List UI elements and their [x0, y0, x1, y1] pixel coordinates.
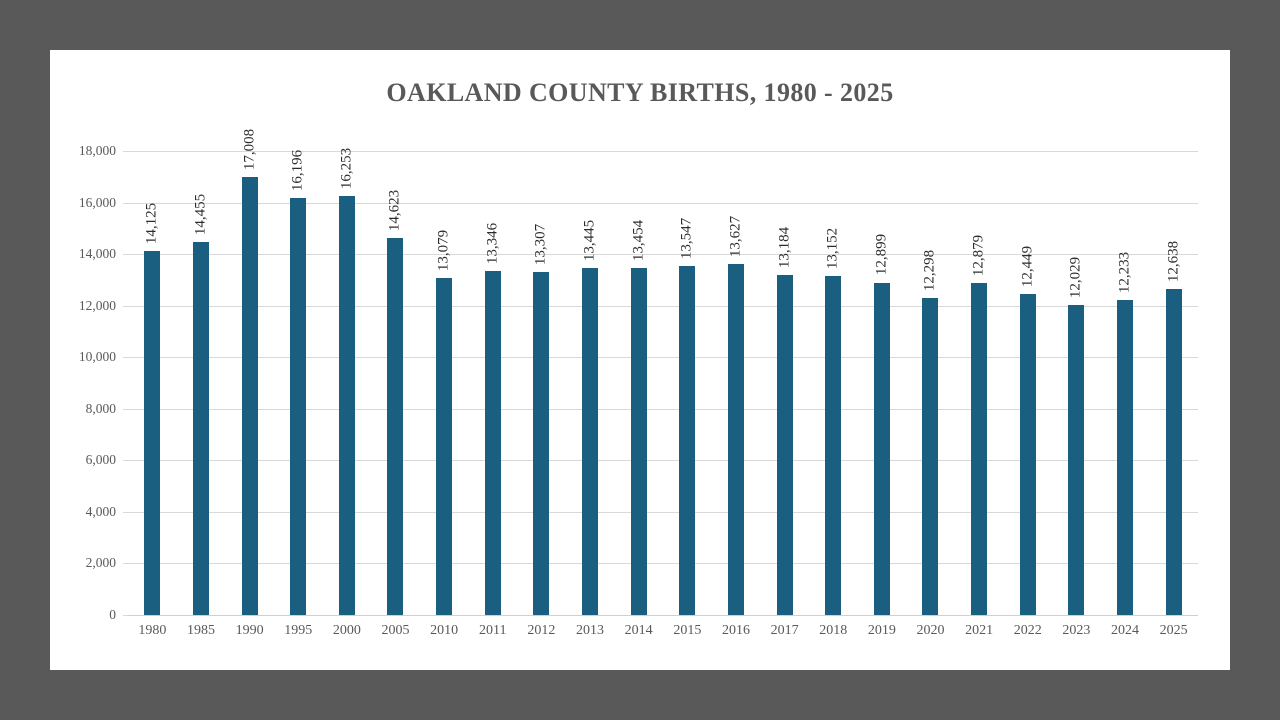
y-axis-tick-label: 18,000: [46, 143, 116, 159]
bar[interactable]: [339, 196, 355, 615]
bar[interactable]: [728, 264, 744, 615]
x-axis-category-label: 2000: [333, 623, 361, 639]
y-axis-tick-label: 2,000: [46, 555, 116, 571]
bar-group: 13,0792010: [420, 151, 469, 615]
bar-value-label: 17,008: [241, 128, 258, 169]
bar-value-label: 12,879: [971, 235, 988, 276]
bar-value-label: 12,899: [873, 234, 890, 275]
bar[interactable]: [874, 283, 890, 616]
bar-group: 13,3462011: [468, 151, 517, 615]
y-axis-tick-label: 10,000: [46, 349, 116, 365]
x-axis-category-label: 2017: [771, 623, 799, 639]
bar-group: 13,1842017: [760, 151, 809, 615]
bar[interactable]: [290, 198, 306, 615]
y-axis-tick-label: 8,000: [46, 401, 116, 417]
bar-group: 16,2532000: [323, 151, 372, 615]
bar-group: 12,8992019: [858, 151, 907, 615]
bar-group: 12,8792021: [955, 151, 1004, 615]
bar-group: 12,0292023: [1052, 151, 1101, 615]
bar-value-label: 13,184: [776, 227, 793, 268]
chart-title: OAKLAND COUNTY BIRTHS, 1980 - 2025: [50, 78, 1230, 108]
bar-value-label: 13,627: [727, 216, 744, 257]
bar-value-label: 12,449: [1019, 246, 1036, 287]
x-axis-category-label: 2012: [527, 623, 555, 639]
bar-group: 14,6232005: [371, 151, 420, 615]
bar-group: 16,1961995: [274, 151, 323, 615]
bar[interactable]: [922, 298, 938, 615]
bar-value-label: 12,029: [1068, 257, 1085, 298]
bar-value-label: 12,298: [922, 250, 939, 291]
bar[interactable]: [1020, 294, 1036, 615]
x-axis-category-label: 2021: [965, 623, 993, 639]
bar[interactable]: [144, 251, 160, 615]
y-axis-tick-label: 0: [46, 607, 116, 623]
x-axis-category-label: 1985: [187, 623, 215, 639]
bar[interactable]: [825, 276, 841, 615]
x-axis-category-label: 2025: [1160, 623, 1188, 639]
x-axis-category-label: 2022: [1014, 623, 1042, 639]
bar-group: 13,6272016: [712, 151, 761, 615]
bar-value-label: 16,196: [290, 149, 307, 190]
bar[interactable]: [485, 271, 501, 615]
bar-value-label: 13,547: [679, 218, 696, 259]
x-axis-category-label: 2005: [381, 623, 409, 639]
bar-value-label: 13,152: [825, 228, 842, 269]
y-axis-tick-label: 6,000: [46, 452, 116, 468]
slide-canvas: OAKLAND COUNTY BIRTHS, 1980 - 2025 18,00…: [50, 50, 1230, 670]
bar[interactable]: [971, 283, 987, 615]
x-axis-category-label: 1990: [236, 623, 264, 639]
bar-value-label: 14,125: [144, 203, 161, 244]
bar[interactable]: [582, 268, 598, 615]
bar-group: 17,0081990: [225, 151, 274, 615]
bar[interactable]: [193, 242, 209, 615]
x-axis-category-label: 2016: [722, 623, 750, 639]
bar[interactable]: [1166, 289, 1182, 615]
bar[interactable]: [387, 238, 403, 615]
bar-value-label: 12,638: [1165, 241, 1182, 282]
x-axis-category-label: 2013: [576, 623, 604, 639]
bar-group: 12,2332024: [1101, 151, 1150, 615]
y-axis-tick-label: 4,000: [46, 504, 116, 520]
bar-value-label: 12,233: [1117, 252, 1134, 293]
bar-group: 13,5472015: [663, 151, 712, 615]
bar-value-label: 13,346: [484, 223, 501, 264]
bar[interactable]: [631, 268, 647, 615]
x-axis-category-label: 2015: [673, 623, 701, 639]
bar[interactable]: [242, 177, 258, 615]
axis-baseline: [128, 615, 1198, 616]
bar-value-label: 13,079: [436, 230, 453, 271]
y-axis-tick-label: 14,000: [46, 246, 116, 262]
bar-value-label: 13,307: [533, 224, 550, 265]
bar-group: 14,1251980: [128, 151, 177, 615]
bar-group: 13,3072012: [517, 151, 566, 615]
bar-group: 13,4452013: [566, 151, 615, 615]
x-axis-category-label: 2023: [1062, 623, 1090, 639]
bar[interactable]: [777, 275, 793, 615]
bar-group: 12,6382025: [1149, 151, 1198, 615]
x-axis-category-label: 2018: [819, 623, 847, 639]
x-axis-category-label: 1995: [284, 623, 312, 639]
y-axis-tick-mark: [123, 615, 128, 616]
bar[interactable]: [679, 266, 695, 615]
x-axis-category-label: 2024: [1111, 623, 1139, 639]
y-axis-tick-label: 12,000: [46, 298, 116, 314]
x-axis-category-label: 1980: [138, 623, 166, 639]
bar[interactable]: [1117, 300, 1133, 615]
bar-value-label: 14,455: [192, 194, 209, 235]
y-axis-tick-label: 16,000: [46, 195, 116, 211]
bar-value-label: 13,454: [630, 220, 647, 261]
bar-group: 13,1522018: [809, 151, 858, 615]
bar-group: 13,4542014: [614, 151, 663, 615]
x-axis-category-label: 2011: [479, 623, 506, 639]
bar-group: 14,4551985: [177, 151, 226, 615]
bar-group: 12,4492022: [1003, 151, 1052, 615]
x-axis-category-label: 2020: [916, 623, 944, 639]
bar-group: 12,2982020: [906, 151, 955, 615]
plot-area: 18,00016,00014,00012,00010,0008,0006,000…: [128, 151, 1198, 615]
bar-value-label: 16,253: [338, 148, 355, 189]
bar[interactable]: [533, 272, 549, 615]
x-axis-category-label: 2019: [868, 623, 896, 639]
bar-value-label: 13,445: [582, 220, 599, 261]
bar[interactable]: [436, 278, 452, 615]
x-axis-category-label: 2014: [625, 623, 653, 639]
x-axis-category-label: 2010: [430, 623, 458, 639]
bar[interactable]: [1068, 305, 1084, 615]
bar-value-label: 14,623: [387, 190, 404, 231]
